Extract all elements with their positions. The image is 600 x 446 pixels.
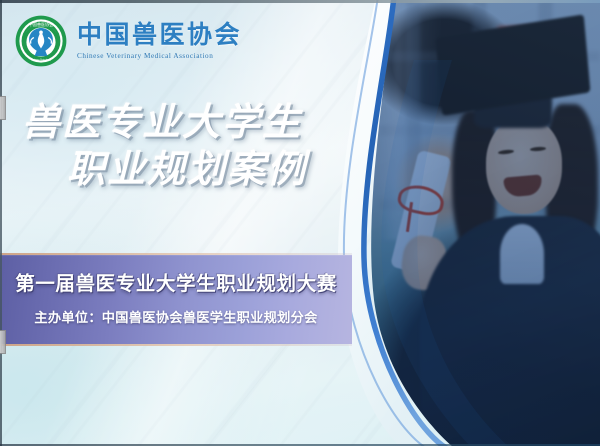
- association-logo-text: 中国兽医协会 Chinese Veterinary Medical Associ…: [77, 22, 242, 60]
- competition-band: 第一届兽医专业大学生职业规划大赛 主办单位：中国兽医协会兽医学生职业规划分会: [0, 255, 352, 344]
- competition-headline: 第一届兽医专业大学生职业规划大赛: [0, 267, 352, 296]
- poster-title-line-2: 职业规划案例: [22, 147, 372, 194]
- competition-organizer: 主办单位：中国兽医协会兽医学生职业规划分会: [0, 307, 352, 326]
- cvma-emblem-icon: 中国兽医协会 Chinese Veterinary: [14, 14, 68, 68]
- scroll-handle-upper[interactable]: [0, 96, 6, 120]
- svg-text:中国兽医协会: 中国兽医协会: [29, 21, 53, 27]
- poster-title-line-1: 兽医专业大学生: [22, 100, 372, 147]
- association-logo: 中国兽医协会 Chinese Veterinary 中国兽医协会 Chinese…: [14, 14, 242, 68]
- svg-text:Chinese Veterinary: Chinese Veterinary: [31, 58, 52, 61]
- association-name-en: Chinese Veterinary Medical Association: [77, 52, 242, 60]
- scroll-handle-lower[interactable]: [0, 330, 6, 354]
- association-name-cn: 中国兽医协会: [77, 22, 242, 49]
- poster-title: 兽医专业大学生 职业规划案例: [22, 100, 372, 193]
- window-left-edge: [0, 0, 2, 446]
- window-top-edge: [0, 0, 600, 3]
- poster-canvas: 中国兽医协会 Chinese Veterinary 中国兽医协会 Chinese…: [0, 0, 600, 446]
